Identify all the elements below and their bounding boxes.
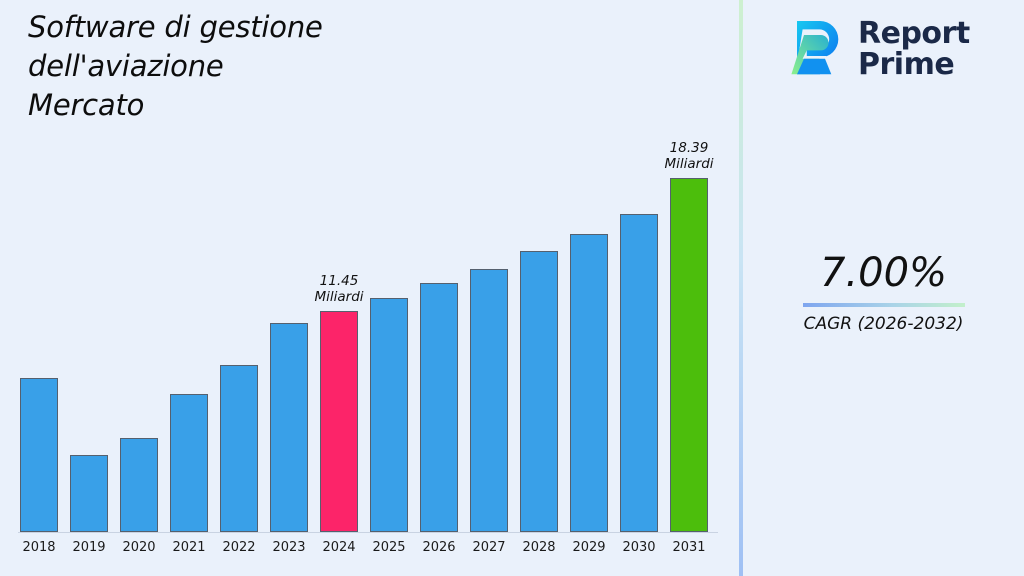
- chart-panel: Software di gestione dell'aviazione Merc…: [0, 0, 740, 576]
- bar-value-label-2024: 11.45 Miliardi: [298, 273, 380, 305]
- bar-2028: [520, 251, 558, 532]
- bar-2022: [220, 365, 258, 532]
- x-tick-2027: 2027: [464, 540, 514, 555]
- bar-2029: [570, 234, 608, 532]
- x-tick-2026: 2026: [414, 540, 464, 555]
- bar-chart-plot: 11.45 Miliardi18.39 Miliardi 20182019202…: [0, 0, 740, 576]
- x-axis-line: [18, 532, 718, 533]
- x-tick-2022: 2022: [214, 540, 264, 555]
- bar-2024: [320, 311, 358, 532]
- brand-logo: Report Prime: [776, 14, 970, 84]
- x-tick-2021: 2021: [164, 540, 214, 555]
- bar-2023: [270, 323, 308, 532]
- x-tick-2028: 2028: [514, 540, 564, 555]
- x-tick-2020: 2020: [114, 540, 164, 555]
- bar-2026: [420, 283, 458, 532]
- bar-2027: [470, 269, 508, 532]
- x-tick-2025: 2025: [364, 540, 414, 555]
- cagr-block: 7.00% CAGR (2026-2032): [743, 250, 1024, 335]
- cagr-value: 7.00%: [743, 250, 1024, 296]
- x-tick-2019: 2019: [64, 540, 114, 555]
- x-tick-2030: 2030: [614, 540, 664, 555]
- x-tick-2029: 2029: [564, 540, 614, 555]
- bar-2025: [370, 298, 408, 532]
- cagr-divider-rule: [803, 303, 965, 307]
- bar-2019: [70, 455, 108, 532]
- x-tick-2031: 2031: [664, 540, 714, 555]
- bar-2030: [620, 214, 658, 532]
- bar-2020: [120, 438, 158, 532]
- infographic-root: Software di gestione dell'aviazione Merc…: [0, 0, 1024, 576]
- x-tick-2023: 2023: [264, 540, 314, 555]
- bar-2031: [670, 178, 708, 532]
- brand-name: Report Prime: [858, 18, 970, 80]
- report-prime-logo-icon: [776, 14, 846, 84]
- x-tick-2024: 2024: [314, 540, 364, 555]
- bar-2018: [20, 378, 58, 532]
- bar-2021: [170, 394, 208, 532]
- bar-value-label-2031: 18.39 Miliardi: [648, 140, 730, 172]
- x-tick-2018: 2018: [14, 540, 64, 555]
- brand-panel: Report Prime 7.00% CAGR (2026-2032): [743, 0, 1024, 576]
- cagr-caption: CAGR (2026-2032): [743, 313, 1024, 335]
